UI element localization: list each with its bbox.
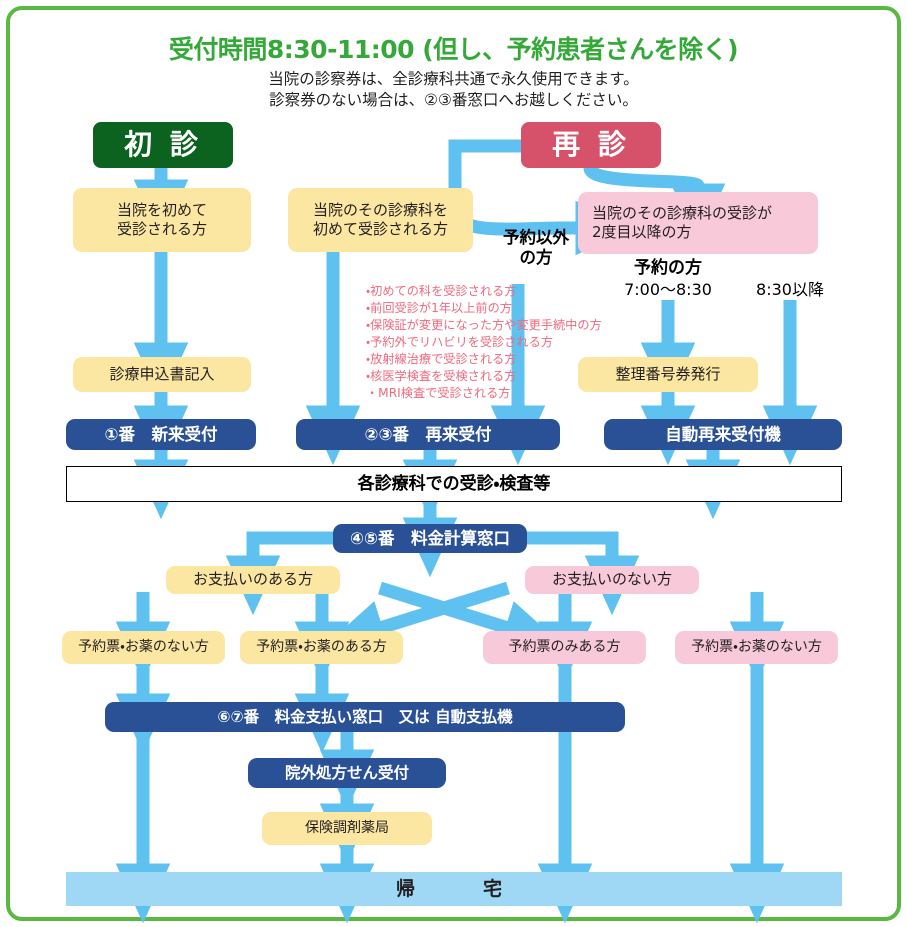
label-reserved: 予約の方 — [608, 258, 728, 279]
box-option-slip-and-medicine: 予約票・お薬のある方 — [240, 631, 403, 664]
box-auto-revisit-machine: 自動再来受付機 — [604, 419, 842, 450]
label-reserved-time-early: 7:00〜8:30 — [608, 280, 728, 300]
box-counter-23: ②③番 再来受付 — [296, 419, 560, 450]
note-item: ・初めての科を受診される方 — [366, 283, 616, 300]
box-new-department-l2: 初めて受診される方 — [313, 220, 448, 240]
box-counter-1: ①番 新来受付 — [66, 419, 256, 450]
note-item: ・保険証が変更になった方や変更手続中の方 — [366, 317, 616, 334]
box-counter-67: ⑥⑦番 料金支払い窓口 又は 自動支払機 — [105, 702, 625, 732]
box-second-or-later-visit-l2: 2度目以降の方 — [592, 223, 692, 243]
label-non-reserved-l2: の方 — [476, 248, 596, 268]
box-departments: 各診療科での受診・検査等 — [66, 466, 842, 502]
box-new-department-l1: 当院のその診療科を — [313, 201, 448, 221]
page-title: 受付時間8:30-11:00 (但し、予約患者さんを除く) — [0, 30, 907, 66]
box-ticket-issue: 整理番号券発行 — [578, 357, 758, 392]
box-pharmacy: 保険調剤薬局 — [262, 812, 432, 845]
box-second-or-later-visit-l1: 当院のその診療科の受診が — [592, 204, 772, 224]
subtitle-line-1: 当院の診察券は、全診療科共通で永久使用できます。 — [0, 68, 907, 90]
box-counter-45: ④⑤番 料金計算窓口 — [333, 524, 527, 553]
note-item: ・MRI検査で受診される方 — [366, 385, 616, 402]
label-non-reserved: 予約以外 の方 — [476, 228, 596, 268]
box-first-time-patient-l1: 当院を初めて — [117, 201, 207, 221]
box-new-department: 当院のその診療科を 初めて受診される方 — [288, 188, 473, 252]
box-no-payment: お支払いのない方 — [525, 566, 699, 594]
box-prescription-reception: 院外処方せん受付 — [248, 758, 446, 788]
box-option-no-slip-no-medicine-right: 予約票・お薬のない方 — [675, 631, 838, 664]
note-item: ・前回受診が1年以上前の方 — [366, 300, 616, 317]
label-non-reserved-l1: 予約以外 — [476, 228, 596, 248]
box-has-payment: お支払いのある方 — [166, 566, 340, 594]
note-item: ・予約外でリハビリを受診される方 — [366, 334, 616, 351]
subtitle-line-2: 診察券のない場合は、②③番窓口へお越しください。 — [0, 89, 907, 111]
box-application-form: 診療申込書記入 — [73, 357, 251, 392]
header-revisit: 再 診 — [521, 122, 661, 168]
header-first-visit: 初 診 — [93, 122, 233, 168]
box-option-slip-only: 予約票のみある方 — [483, 631, 646, 664]
flowchart-page: 受付時間8:30-11:00 (但し、予約患者さんを除く) 当院の診察券は、全診… — [0, 0, 907, 927]
box-go-home: 帰 宅 — [66, 872, 842, 906]
label-reserved-time-late: 8:30以降 — [734, 280, 846, 300]
box-first-time-patient-l2: 受診される方 — [117, 220, 207, 240]
box-second-or-later-visit: 当院のその診療科の受診が 2度目以降の方 — [578, 192, 818, 254]
box-option-no-slip-no-medicine: 予約票・お薬のない方 — [62, 631, 225, 664]
box-first-time-patient: 当院を初めて 受診される方 — [73, 188, 251, 252]
